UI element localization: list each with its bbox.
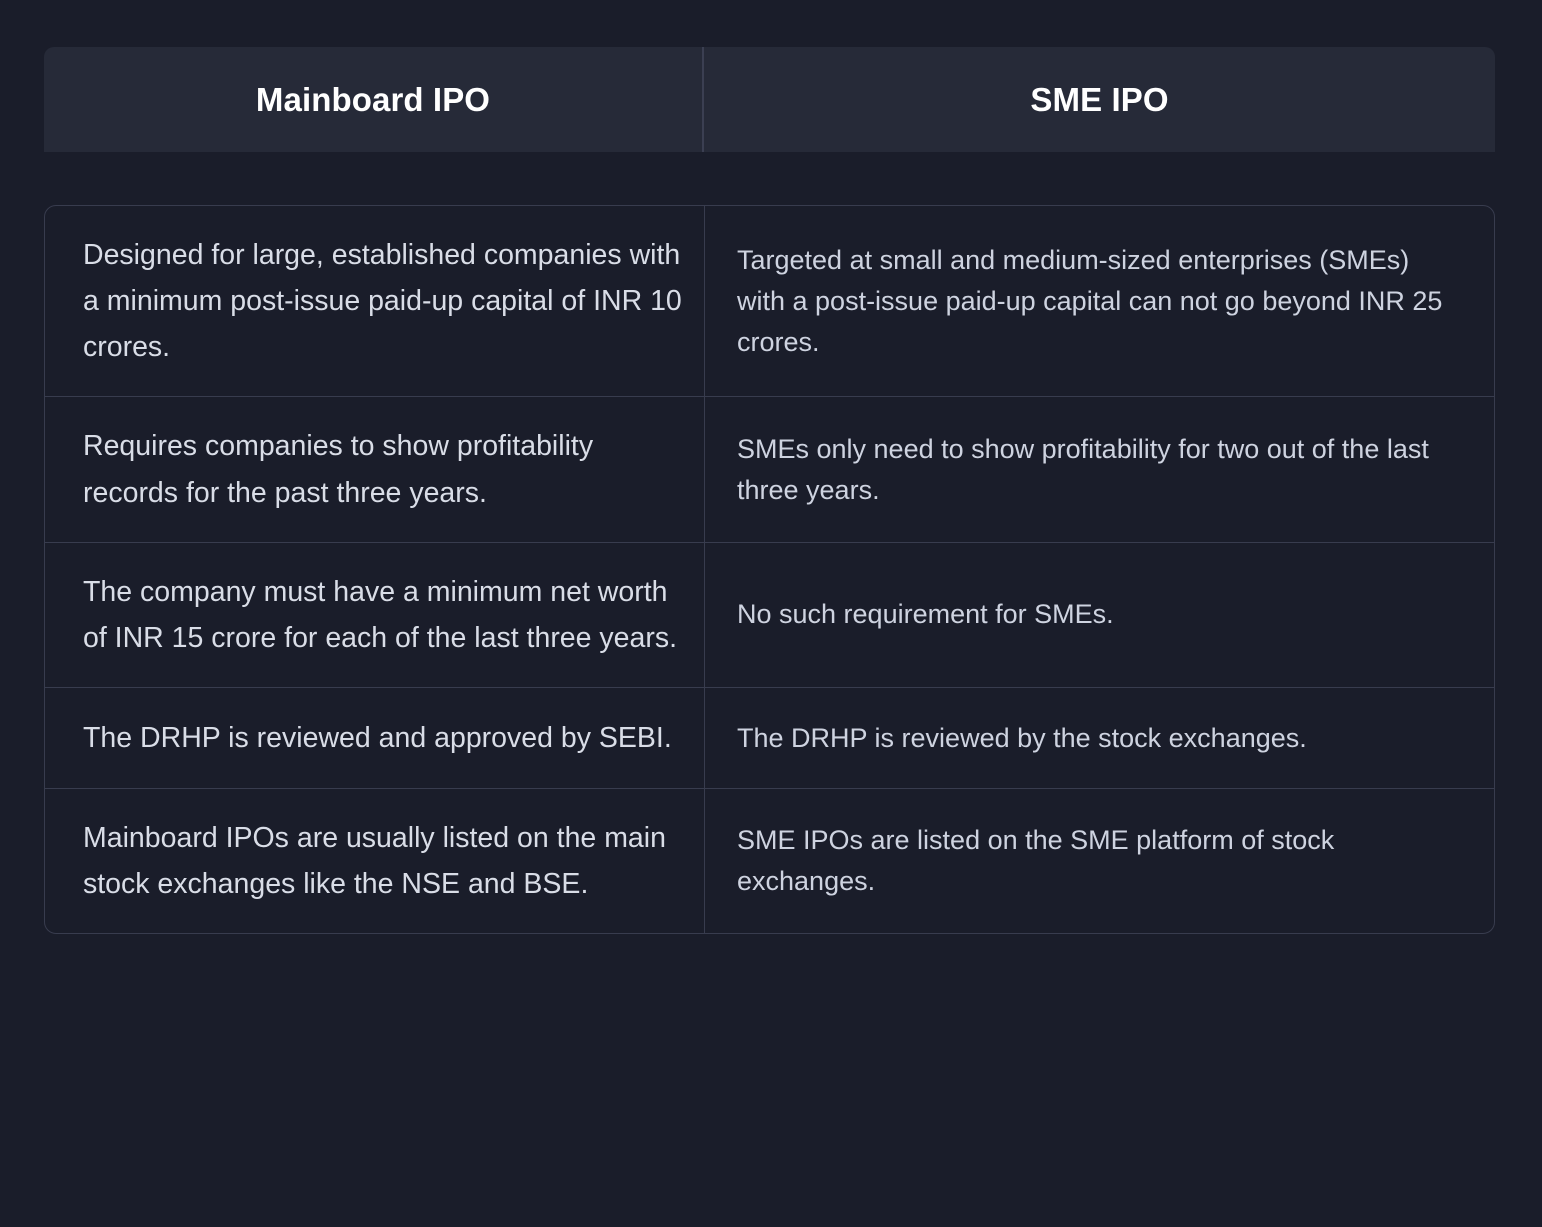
table-cell-text: Mainboard IPOs are usually listed on the… [83,815,684,907]
table-cell-mainboard: Mainboard IPOs are usually listed on the… [45,789,705,933]
comparison-table-body: Designed for large, established companie… [44,205,1495,934]
table-cell-sme: SMEs only need to show profitability for… [705,397,1494,541]
column-header-mainboard: Mainboard IPO [44,47,704,152]
table-header-band: Mainboard IPO SME IPO [44,47,1495,152]
table-row: Designed for large, established companie… [45,206,1494,397]
table-cell-text: The DRHP is reviewed and approved by SEB… [83,715,672,761]
table-cell-mainboard: The DRHP is reviewed and approved by SEB… [45,688,705,788]
table-cell-sme: SME IPOs are listed on the SME platform … [705,789,1494,933]
comparison-table-page: Mainboard IPO SME IPO Designed for large… [0,0,1542,1227]
table-cell-text: SMEs only need to show profitability for… [737,429,1464,511]
table-cell-sme: No such requirement for SMEs. [705,543,1494,687]
table-cell-sme: The DRHP is reviewed by the stock exchan… [705,688,1494,788]
table-cell-text: SME IPOs are listed on the SME platform … [737,820,1464,902]
table-row: Requires companies to show profitability… [45,397,1494,542]
column-header-sme-label: SME IPO [1030,80,1168,120]
table-cell-sme: Targeted at small and medium-sized enter… [705,206,1494,396]
table-cell-text: The company must have a minimum net wort… [83,569,684,661]
table-row: The DRHP is reviewed and approved by SEB… [45,688,1494,789]
table-cell-text: Targeted at small and medium-sized enter… [737,240,1464,363]
table-cell-text: Requires companies to show profitability… [83,423,684,515]
table-cell-text: Designed for large, established companie… [83,232,684,370]
table-cell-mainboard: The company must have a minimum net wort… [45,543,705,687]
table-cell-text: The DRHP is reviewed by the stock exchan… [737,718,1307,759]
column-header-mainboard-label: Mainboard IPO [256,80,490,120]
table-cell-mainboard: Designed for large, established companie… [45,206,705,396]
column-header-sme: SME IPO [704,47,1495,152]
table-cell-text: No such requirement for SMEs. [737,594,1114,635]
table-row: Mainboard IPOs are usually listed on the… [45,789,1494,933]
table-row: The company must have a minimum net wort… [45,543,1494,688]
table-cell-mainboard: Requires companies to show profitability… [45,397,705,541]
